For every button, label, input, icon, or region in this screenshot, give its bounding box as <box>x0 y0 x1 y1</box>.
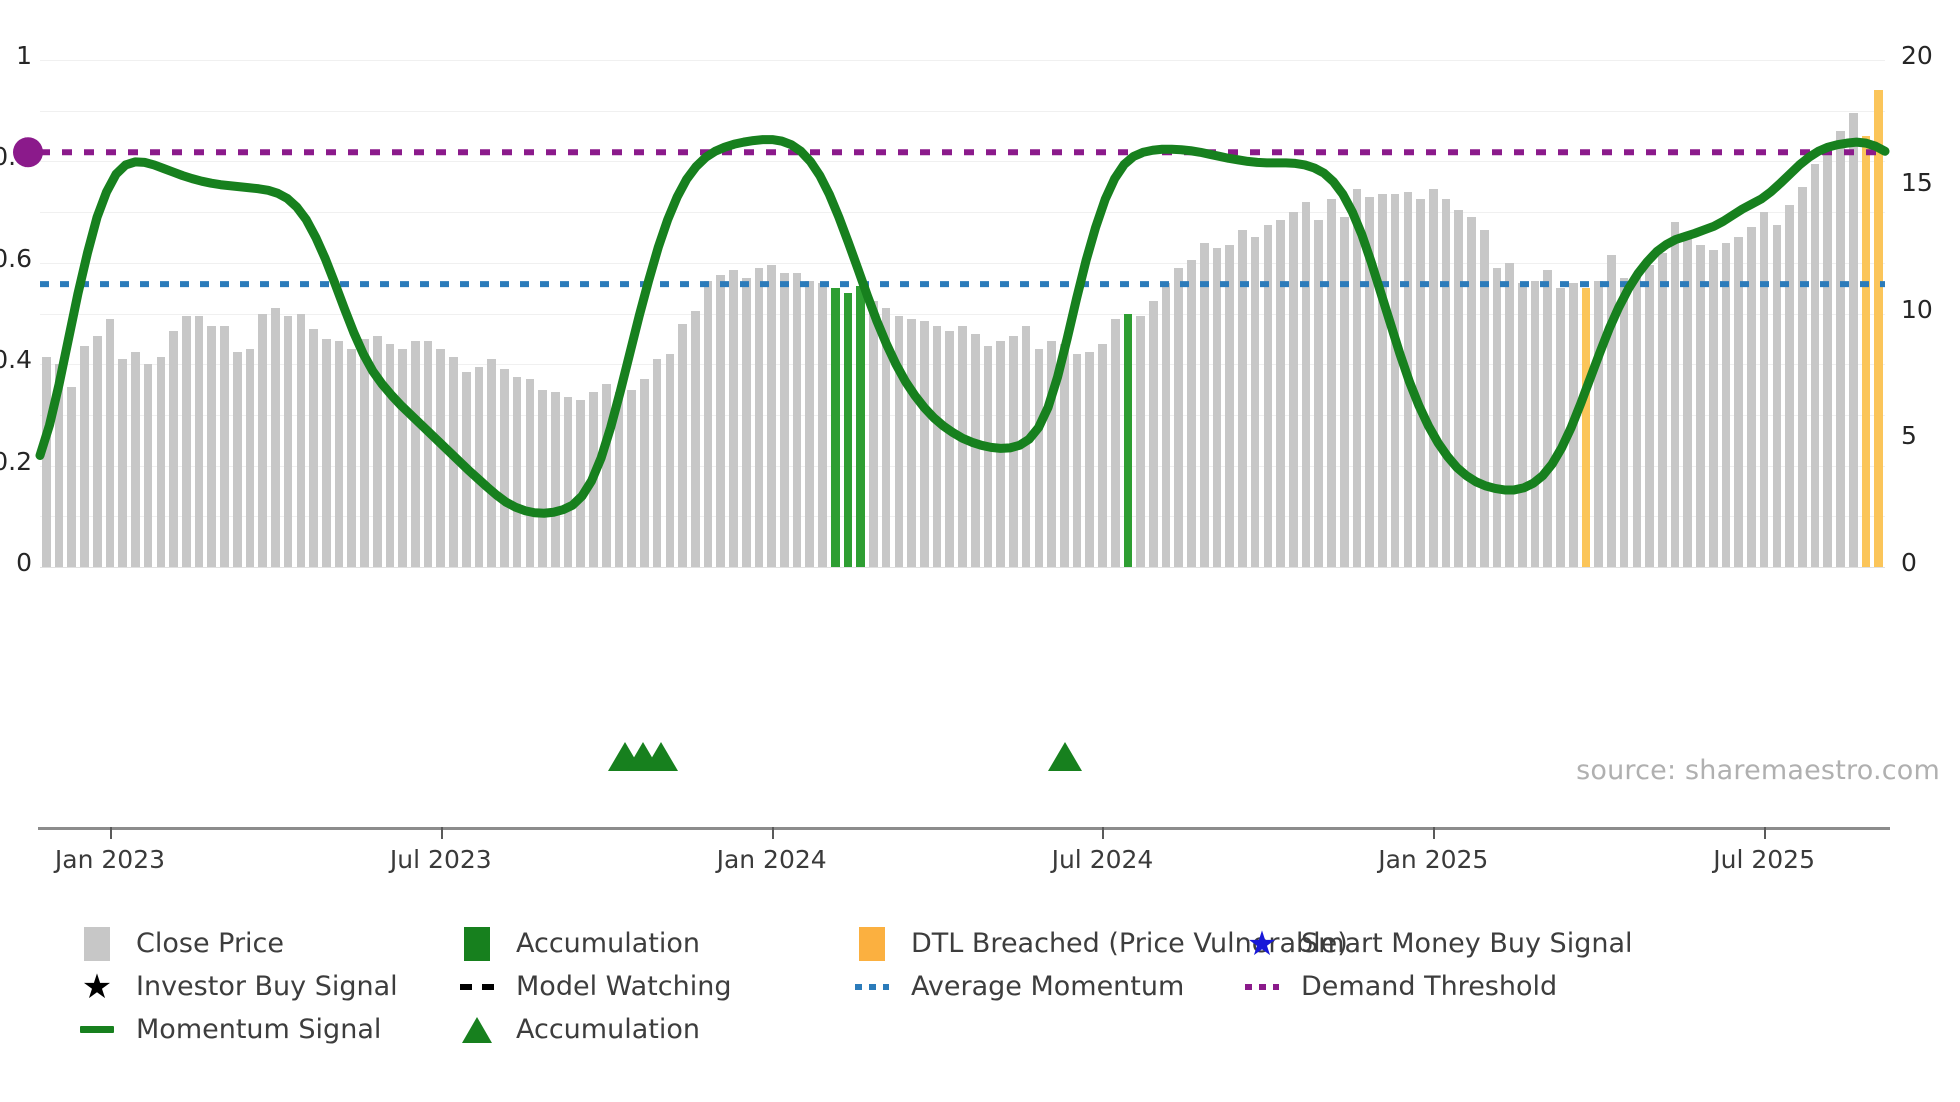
legend-label: Model Watching <box>516 971 731 1002</box>
chart-legend: Close PriceAccumulationDTL Breached (Pri… <box>80 922 1940 1051</box>
square-swatch <box>460 924 494 964</box>
legend-item[interactable]: Momentum Signal <box>80 1008 381 1051</box>
legend-item[interactable]: Accumulation <box>460 1008 700 1051</box>
legend-item[interactable]: ★Smart Money Buy Signal <box>1245 922 1633 965</box>
financial-chart: 00.20.40.60.81 05101520 Jan 2023Jul 2023… <box>0 0 1960 1102</box>
legend-label: Smart Money Buy Signal <box>1301 928 1633 959</box>
legend-label: Close Price <box>136 928 284 959</box>
square-swatch-icon <box>84 927 110 961</box>
legend-label: Accumulation <box>516 1014 700 1045</box>
dashed-line-swatch <box>460 967 494 1007</box>
legend-row: ★Investor Buy SignalModel WatchingAverag… <box>80 965 1940 1008</box>
star-swatch: ★ <box>1245 924 1279 964</box>
dashed-line-swatch-icon <box>460 984 494 990</box>
dotted-line-swatch-icon <box>855 984 889 990</box>
square-swatch-icon <box>859 927 885 961</box>
line-swatch <box>80 1010 114 1050</box>
x-tick-label: Jan 2025 <box>1378 845 1488 874</box>
triangle-icon <box>462 1017 492 1043</box>
accumulation-markers <box>40 567 1885 687</box>
square-swatch <box>80 924 114 964</box>
star-swatch: ★ <box>80 967 114 1007</box>
x-tick-label: Jan 2024 <box>717 845 827 874</box>
x-tick-mark <box>1102 827 1104 839</box>
momentum-signal-line <box>40 140 1885 514</box>
legend-label: Momentum Signal <box>136 1014 381 1045</box>
legend-item[interactable]: Model Watching <box>460 965 731 1008</box>
star-icon: ★ <box>1247 927 1277 961</box>
accumulation-marker-triangle <box>1048 742 1082 771</box>
legend-label: Accumulation <box>516 928 700 959</box>
y-tick-right: 10 <box>1901 297 1933 322</box>
accumulation-marker-triangle <box>644 742 678 771</box>
y-tick-right: 5 <box>1901 423 1917 448</box>
source-note: source: sharemaestro.com <box>1576 755 1940 786</box>
dotted-line-swatch <box>855 967 889 1007</box>
y-axis-right: 05101520 <box>1893 0 1953 567</box>
legend-label: Investor Buy Signal <box>136 971 398 1002</box>
plot-area <box>40 60 1885 567</box>
x-tick-mark <box>1433 827 1435 839</box>
legend-item[interactable]: Accumulation <box>460 922 700 965</box>
x-tick-mark <box>110 827 112 839</box>
legend-label: Demand Threshold <box>1301 971 1557 1002</box>
dotted-line-swatch-icon <box>1245 984 1279 990</box>
line-swatch-icon <box>80 1026 114 1033</box>
y-tick-left: 0.2 <box>0 449 32 474</box>
triangle-swatch <box>460 1010 494 1050</box>
legend-item[interactable]: ★Investor Buy Signal <box>80 965 398 1008</box>
line-overlay <box>40 60 1885 567</box>
x-tick-label: Jul 2023 <box>390 845 492 874</box>
x-tick-label: Jul 2024 <box>1052 845 1154 874</box>
x-tick-mark <box>1764 827 1766 839</box>
x-tick-label: Jul 2025 <box>1713 845 1815 874</box>
square-swatch-icon <box>464 927 490 961</box>
y-tick-right: 20 <box>1901 43 1933 68</box>
star-icon: ★ <box>82 970 112 1004</box>
x-tick-label: Jan 2023 <box>55 845 165 874</box>
legend-item[interactable]: Close Price <box>80 922 284 965</box>
x-tick-mark <box>772 827 774 839</box>
demand-threshold-start-dot <box>13 137 43 167</box>
y-tick-left: 0 <box>16 550 32 575</box>
x-axis-line <box>38 827 1890 830</box>
y-axis-left: 00.20.40.60.81 <box>0 0 38 567</box>
y-tick-right: 0 <box>1901 550 1917 575</box>
dotted-line-swatch <box>1245 967 1279 1007</box>
legend-item[interactable]: Demand Threshold <box>1245 965 1557 1008</box>
y-tick-left: 1 <box>16 43 32 68</box>
legend-item[interactable]: Average Momentum <box>855 965 1184 1008</box>
y-tick-left: 0.4 <box>0 347 32 372</box>
y-tick-left: 0.6 <box>0 246 32 271</box>
y-tick-right: 15 <box>1901 170 1933 195</box>
x-tick-mark <box>441 827 443 839</box>
legend-row: Close PriceAccumulationDTL Breached (Pri… <box>80 922 1940 965</box>
legend-row: Momentum SignalAccumulation <box>80 1008 1940 1051</box>
square-swatch <box>855 924 889 964</box>
legend-label: Average Momentum <box>911 971 1184 1002</box>
